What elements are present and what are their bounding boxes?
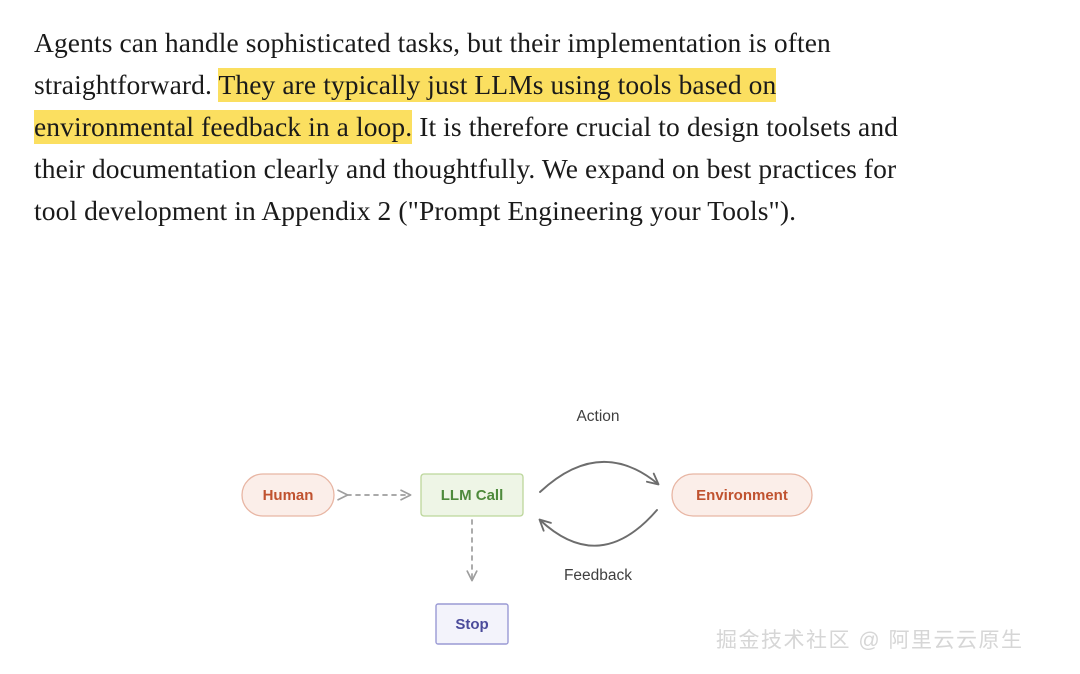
paragraph-line-2: straightforward. They are typically just… — [34, 64, 1034, 106]
agent-loop-diagram: Action Feedback LLM Call dashed bidirect… — [0, 380, 1080, 660]
human-node-label: Human — [263, 487, 314, 504]
stop-node-label: Stop — [455, 616, 488, 633]
paragraph-line-5: tool development in Appendix 2 ("Prompt … — [34, 190, 1034, 232]
edge-action: Action — [540, 408, 658, 492]
feedback-label: Feedback — [564, 567, 632, 584]
action-label: Action — [576, 408, 619, 425]
article-paragraph: Agents can handle sophisticated tasks, b… — [34, 22, 1034, 232]
paragraph-line-1: Agents can handle sophisticated tasks, b… — [34, 22, 1034, 64]
text-run: tool development in Appendix 2 ("Prompt … — [34, 195, 796, 226]
node-environment[interactable]: Environment — [672, 474, 812, 516]
highlighted-text-run: They are typically just LLMs using tools… — [218, 68, 776, 102]
paragraph-line-4: their documentation clearly and thoughtf… — [34, 148, 1034, 190]
highlighted-text-run: environmental feedback in a loop. — [34, 110, 412, 144]
node-stop[interactable]: Stop — [436, 604, 508, 644]
text-run: It is therefore crucial to design toolse… — [412, 111, 898, 142]
feedback-arrow-path — [540, 510, 657, 546]
paragraph-line-3: environmental feedback in a loop. It is … — [34, 106, 1034, 148]
llm-call-node-label: LLM Call — [441, 487, 504, 504]
edge-feedback: Feedback — [540, 510, 657, 584]
node-llm-call[interactable]: LLM Call — [421, 474, 523, 516]
text-run: their documentation clearly and thoughtf… — [34, 153, 896, 184]
watermark-text: 掘金技术社区 @ 阿里云云原生 — [716, 624, 1024, 654]
text-run: Agents can handle sophisticated tasks, b… — [34, 27, 831, 58]
action-arrow-path — [540, 462, 658, 492]
node-human[interactable]: Human — [242, 474, 334, 516]
text-run: straightforward. — [34, 69, 218, 100]
environment-node-label: Environment — [696, 487, 788, 504]
